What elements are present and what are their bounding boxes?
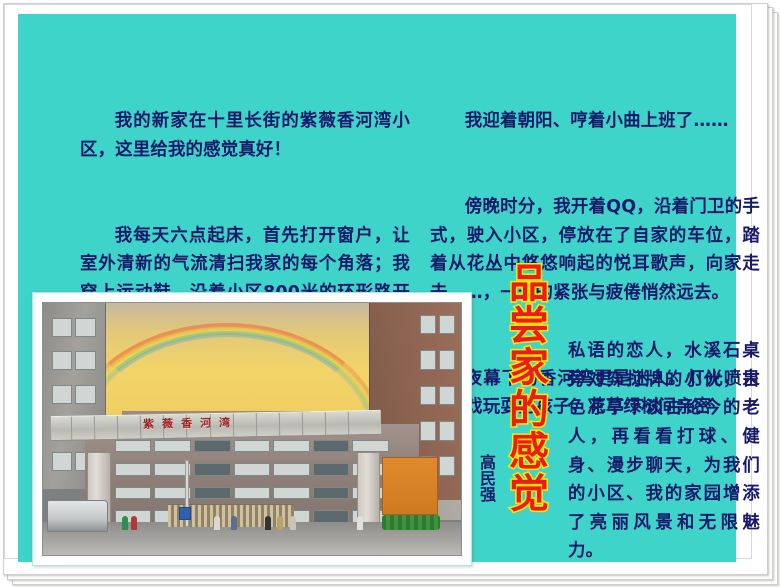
pedestrian [277,516,283,530]
pedestrian [122,516,128,530]
blue-street-sign [179,507,191,520]
paragraph: 我的新家在十里长街的紫薇香河湾小区，这里给我的感觉真好！ [80,107,410,164]
pedestrian [214,516,220,530]
pedestrian [131,516,137,530]
paragraph: 我迎着朝阳、哼着小曲上班了…… [430,107,760,136]
body-text-column-right-narrow: 私语的恋人，水溪石桌旁对弈打牌的小伙，古色凉亭下谈古论今的老人，再看看打球、健身… [568,280,760,587]
gate-signage-text: 紫薇香河湾 [143,414,238,432]
orange-storefront-awning [382,457,438,514]
turquoise-canvas: 我的新家在十里长街的紫薇香河湾小区，这里给我的感觉真好！ 我每天六点起床，首先打… [18,14,736,562]
page-title-vertical: 品尝家的感觉 [504,262,546,514]
page-root: 我的新家在十里长街的紫薇香河湾小区，这里给我的感觉真好！ 我每天六点起床，首先打… [0,0,780,587]
author-name-vertical: 高民强 [474,454,498,502]
pedestrian [265,516,271,530]
photograph: 紫薇香河湾 [42,302,462,556]
green-hedge [382,515,441,530]
paragraph: 私语的恋人，水溪石桌旁对弈打牌的小伙，古色凉亭下谈古论今的老人，再看看打球、健身… [568,337,760,566]
photo-frame: 紫薇香河湾 [32,292,472,566]
pedestrian [357,516,363,530]
pedestrian [290,516,296,530]
pedestrian [231,516,237,530]
parked-van [47,500,108,532]
